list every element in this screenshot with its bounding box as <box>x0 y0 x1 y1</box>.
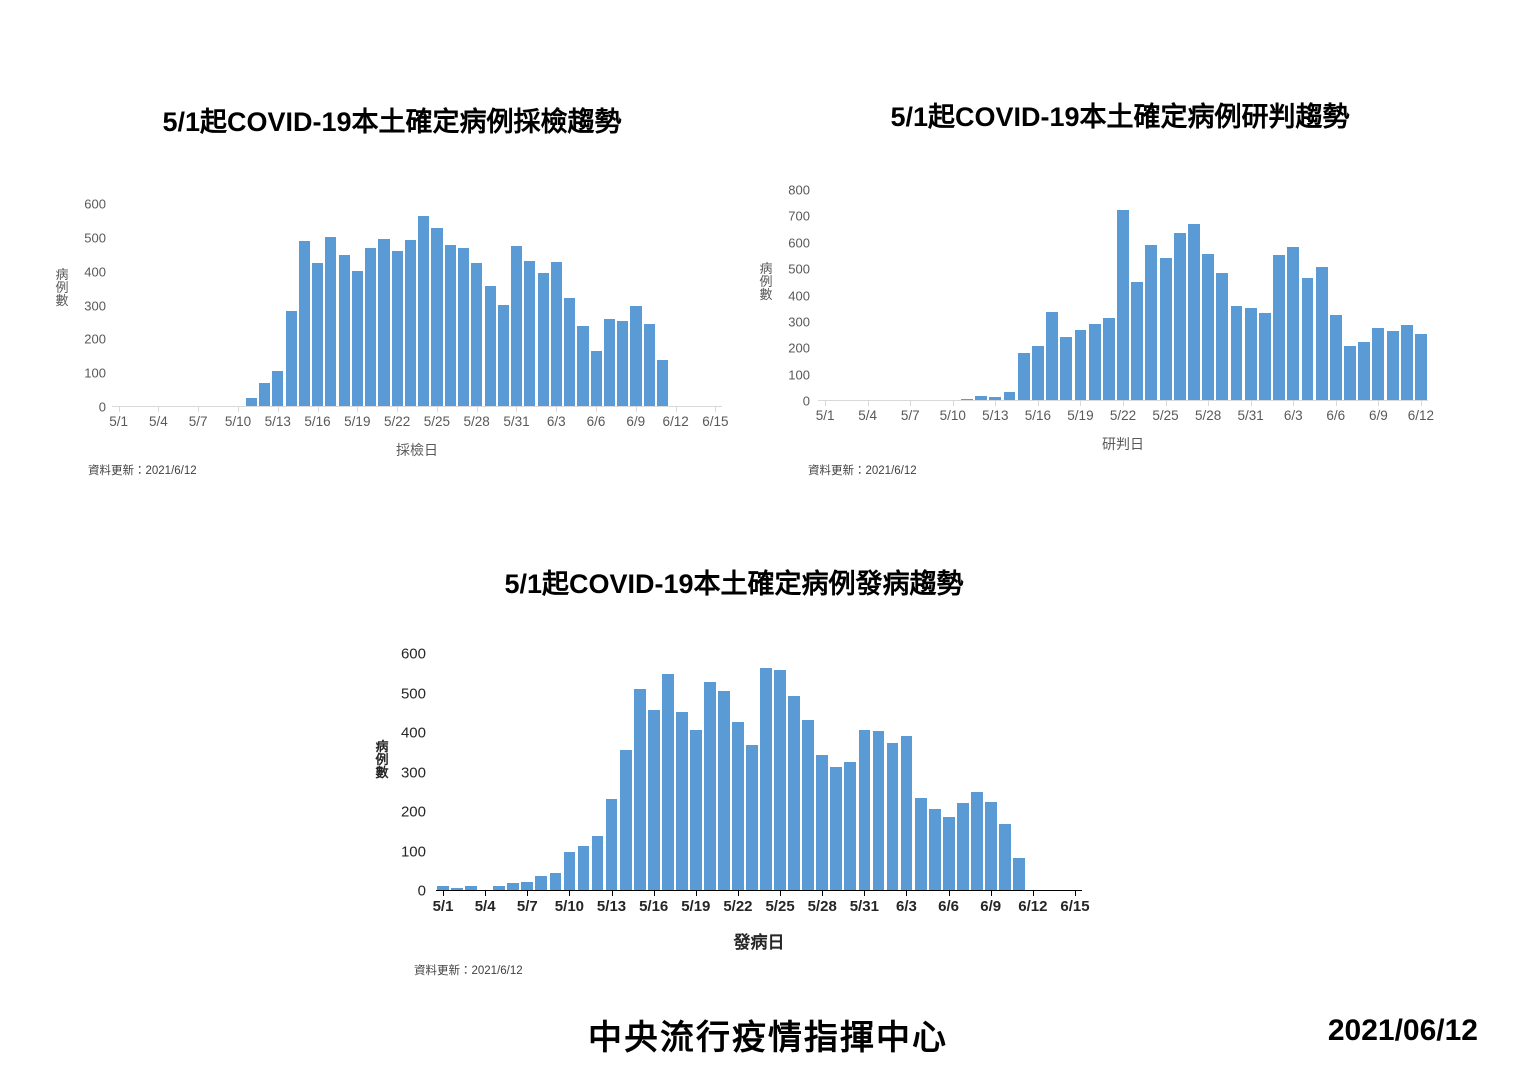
y-tick-label: 400 <box>401 725 426 742</box>
bar <box>732 722 744 890</box>
x-tick-mark <box>1080 401 1081 406</box>
bar <box>511 246 522 406</box>
bar-slot <box>886 654 900 890</box>
bar-slot <box>616 204 629 406</box>
y-tick-label: 600 <box>84 197 106 212</box>
x-tick-mark <box>596 407 597 412</box>
bar <box>1032 346 1044 400</box>
bar <box>538 273 549 406</box>
bar-slot <box>1258 190 1272 400</box>
x-tick-mark <box>1378 401 1379 406</box>
bar-slot <box>436 654 450 890</box>
x-tick-label: 5/31 <box>1238 408 1264 423</box>
bar <box>1004 392 1016 400</box>
update-note-sampling: 資料更新：2021/6/12 <box>88 462 197 478</box>
y-tick-label: 100 <box>84 366 106 381</box>
y-tick-label: 0 <box>99 400 106 415</box>
x-tick-mark <box>527 891 528 896</box>
x-tick-mark <box>715 407 716 412</box>
bar-slot <box>506 654 520 890</box>
bar-slot <box>1073 190 1087 400</box>
bar <box>498 305 509 407</box>
x-axis-ticks-sampling: 5/15/45/75/105/135/165/195/225/255/285/3… <box>112 407 722 429</box>
bar <box>259 383 270 406</box>
x-tick-mark <box>612 891 613 896</box>
bar-slot <box>550 204 563 406</box>
x-tick-mark <box>949 891 950 896</box>
x-tick-mark <box>1166 401 1167 406</box>
bar <box>471 263 482 406</box>
bar <box>339 255 350 406</box>
bar <box>975 396 987 400</box>
bar <box>1372 328 1384 400</box>
bar-slot <box>1400 190 1414 400</box>
x-tick-mark <box>437 407 438 412</box>
bar-slot <box>603 204 616 406</box>
x-tick-label: 5/7 <box>189 414 208 429</box>
bar-slot <box>284 204 297 406</box>
bar <box>901 736 913 890</box>
bar <box>1259 313 1271 400</box>
x-tick-label: 5/22 <box>384 414 410 429</box>
chart-panel-onset: 5/1起COVID-19本土確定病例發病趨勢 病 例 數 60050040030… <box>370 562 1130 992</box>
bar-slot <box>928 654 942 890</box>
x-tick-mark <box>198 407 199 412</box>
bar <box>458 248 469 406</box>
y-tick-label: 600 <box>401 646 426 663</box>
bar-slot <box>1045 190 1059 400</box>
bars-container-determination <box>818 190 1428 401</box>
bar <box>1103 318 1115 400</box>
bar-slot <box>829 654 843 890</box>
bar-slot <box>1159 190 1173 400</box>
y-tick-label: 400 <box>788 288 810 303</box>
x-tick-label: 6/12 <box>662 414 688 429</box>
bar-slot <box>689 654 703 890</box>
chart-panel-sampling: 5/1起COVID-19本土確定病例採檢趨勢 病 例 數 60050040030… <box>60 100 740 500</box>
bar-slot <box>942 654 956 890</box>
x-tick-mark <box>238 407 239 412</box>
bar-slot <box>192 204 205 406</box>
update-note-onset: 資料更新：2021/6/12 <box>414 962 523 978</box>
bar <box>989 397 1001 400</box>
x-tick-mark <box>1336 401 1337 406</box>
bar <box>1131 282 1143 400</box>
chart-title-determination: 5/1起COVID-19本土確定病例研判趨勢 <box>790 95 1450 134</box>
bar-slot <box>1386 190 1400 400</box>
x-tick-label: 5/25 <box>1152 408 1178 423</box>
x-tick-mark <box>1251 401 1252 406</box>
bar <box>746 745 758 890</box>
x-axis-ticks-onset: 5/15/45/75/105/135/165/195/225/255/285/3… <box>436 891 1082 913</box>
bar-slot <box>457 204 470 406</box>
bar-slot <box>576 654 590 890</box>
bar-slot <box>745 654 759 890</box>
y-axis-title-onset: 病 例 數 <box>374 740 390 779</box>
x-tick-label: 5/4 <box>149 414 168 429</box>
bar-slot <box>534 654 548 890</box>
bar <box>577 326 588 406</box>
plot-area-sampling: 病 例 數 6005004003002001000 5/15/45/75/105… <box>60 190 740 420</box>
bar-slot <box>417 204 430 406</box>
x-tick-mark <box>278 407 279 412</box>
bar-slot <box>647 654 661 890</box>
bar <box>352 271 363 406</box>
bar <box>445 245 456 406</box>
bar-slot <box>857 654 871 890</box>
bar <box>578 846 590 890</box>
x-tick-mark <box>1123 401 1124 406</box>
footer-date: 2021/06/12 <box>1328 1014 1478 1048</box>
bar-slot <box>1040 654 1054 890</box>
bar <box>418 216 429 406</box>
y-tick-label: 500 <box>84 230 106 245</box>
bar-slot <box>510 204 523 406</box>
x-tick-mark <box>357 407 358 412</box>
bar-slot <box>956 654 970 890</box>
bar <box>1160 258 1172 400</box>
bar-slot <box>832 190 846 400</box>
bar <box>971 792 983 890</box>
x-tick-mark <box>485 891 486 896</box>
bar <box>915 798 927 890</box>
y-tick-label: 500 <box>401 685 426 702</box>
bar-slot <box>1130 190 1144 400</box>
x-tick-label: 6/12 <box>1408 408 1434 423</box>
bar-slot <box>478 654 492 890</box>
bar <box>1287 247 1299 400</box>
bar-slot <box>178 204 191 406</box>
bar <box>451 888 463 890</box>
bar <box>887 743 899 890</box>
x-tick-mark <box>868 401 869 406</box>
y-tick-label: 600 <box>788 235 810 250</box>
y-tick-label: 300 <box>788 314 810 329</box>
bar <box>760 668 772 890</box>
bar <box>550 873 562 890</box>
bar-slot <box>1102 190 1116 400</box>
bar <box>1245 308 1257 400</box>
x-tick-mark <box>1208 401 1209 406</box>
x-tick-label: 5/4 <box>475 898 496 915</box>
bar <box>465 886 477 890</box>
bar <box>1216 273 1228 400</box>
bar <box>1415 334 1427 400</box>
bar-slot <box>1068 654 1082 890</box>
bar-slot <box>871 654 885 890</box>
bar <box>524 261 535 406</box>
x-tick-mark <box>318 407 319 412</box>
bar <box>644 324 655 406</box>
x-tick-label: 5/25 <box>765 898 794 915</box>
bar-slot <box>590 204 603 406</box>
bar <box>1089 324 1101 400</box>
x-tick-label: 5/16 <box>1025 408 1051 423</box>
x-tick-mark <box>696 891 697 896</box>
bar-slot <box>1187 190 1201 400</box>
plot-area-onset: 病 例 數 6005004003002001000 5/15/45/75/105… <box>370 640 1130 910</box>
x-tick-label: 5/28 <box>1195 408 1221 423</box>
bar <box>929 809 941 890</box>
bar-slot <box>165 204 178 406</box>
bar <box>1013 858 1025 890</box>
bar-slot <box>563 204 576 406</box>
bar-slot <box>1116 190 1130 400</box>
bar <box>802 720 814 890</box>
x-tick-mark <box>477 407 478 412</box>
bar-slot <box>773 654 787 890</box>
x-tick-label: 5/1 <box>109 414 128 429</box>
bar <box>1358 342 1370 400</box>
x-tick-mark <box>953 401 954 406</box>
x-tick-mark <box>864 891 865 896</box>
bar-slot <box>1002 190 1016 400</box>
bar <box>591 351 602 406</box>
bar-slot <box>988 190 1002 400</box>
bar <box>1302 278 1314 400</box>
bar <box>1174 233 1186 400</box>
bar-slot <box>709 204 722 406</box>
x-tick-label: 6/9 <box>626 414 645 429</box>
bar <box>521 882 533 890</box>
x-tick-label: 5/31 <box>850 898 879 915</box>
y-tick-label: 0 <box>418 883 426 900</box>
bar-slot <box>703 654 717 890</box>
bar-slot <box>818 190 832 400</box>
x-axis-title-sampling: 採檢日 <box>396 440 438 460</box>
bar-slot <box>537 204 550 406</box>
bar-slot <box>364 204 377 406</box>
bar <box>299 241 310 406</box>
x-tick-label: 5/19 <box>681 898 710 915</box>
bar <box>431 228 442 406</box>
x-tick-label: 5/25 <box>424 414 450 429</box>
x-tick-label: 5/31 <box>503 414 529 429</box>
bar-slot <box>1215 190 1229 400</box>
bar <box>718 691 730 890</box>
bar-slot <box>970 654 984 890</box>
y-tick-label: 100 <box>788 367 810 382</box>
x-tick-label: 5/7 <box>517 898 538 915</box>
x-tick-label: 5/28 <box>464 414 490 429</box>
x-tick-label: 5/1 <box>816 408 835 423</box>
bar-slot <box>1054 654 1068 890</box>
bar-slot <box>351 204 364 406</box>
y-tick-label: 500 <box>788 262 810 277</box>
y-axis-ticks-sampling: 6005004003002001000 <box>76 204 110 406</box>
bar-slot <box>1031 190 1045 400</box>
bar <box>788 696 800 890</box>
bar-slot <box>464 654 478 890</box>
bar-slot <box>861 190 875 400</box>
bar-slot <box>946 190 960 400</box>
bar-slot <box>492 654 506 890</box>
x-tick-label: 5/10 <box>940 408 966 423</box>
bar <box>1018 353 1030 400</box>
bar-slot <box>656 204 669 406</box>
bar-slot <box>633 654 647 890</box>
bar <box>985 802 997 890</box>
bar-slot <box>444 204 457 406</box>
x-tick-mark <box>569 891 570 896</box>
bar <box>676 712 688 890</box>
x-tick-label: 6/12 <box>1018 898 1047 915</box>
bar <box>604 319 615 406</box>
bar-slot <box>271 204 284 406</box>
bar-slot <box>311 204 324 406</box>
bar-slot <box>914 654 928 890</box>
x-tick-label: 5/4 <box>858 408 877 423</box>
y-tick-label: 0 <box>803 394 810 409</box>
x-tick-mark <box>119 407 120 412</box>
bar <box>1344 346 1356 400</box>
x-tick-label: 6/6 <box>1326 408 1345 423</box>
x-tick-label: 6/9 <box>980 898 1001 915</box>
bar-slot <box>1229 190 1243 400</box>
bar <box>378 239 389 406</box>
bar-slot <box>576 204 589 406</box>
bar <box>1401 325 1413 400</box>
bar <box>690 730 702 890</box>
x-tick-mark <box>1038 401 1039 406</box>
bar-slot <box>1315 190 1329 400</box>
bar-slot <box>984 654 998 890</box>
bar <box>365 248 376 406</box>
bar <box>859 730 871 890</box>
y-tick-label: 300 <box>401 764 426 781</box>
bar-slot <box>377 204 390 406</box>
bar <box>657 360 668 406</box>
bar <box>392 251 403 406</box>
update-note-determination: 資料更新：2021/6/12 <box>808 462 917 478</box>
bar-slot <box>548 654 562 890</box>
x-tick-label: 5/28 <box>808 898 837 915</box>
bar-slot <box>125 204 138 406</box>
x-tick-mark <box>1033 891 1034 896</box>
bar-slot <box>231 204 244 406</box>
bar <box>634 689 646 890</box>
bar <box>551 262 562 406</box>
bar-slot <box>523 204 536 406</box>
y-tick-label: 100 <box>401 843 426 860</box>
bar <box>564 298 575 406</box>
y-tick-label: 400 <box>84 264 106 279</box>
bar-slot <box>932 190 946 400</box>
bar-slot <box>245 204 258 406</box>
x-tick-label: 6/9 <box>1369 408 1388 423</box>
bar-slot <box>974 190 988 400</box>
x-tick-label: 5/1 <box>433 898 454 915</box>
bar <box>312 263 323 406</box>
bar-slot <box>1343 190 1357 400</box>
bar-slot <box>759 654 773 890</box>
x-tick-label: 5/13 <box>982 408 1008 423</box>
bar <box>564 852 576 890</box>
bar-slot <box>605 654 619 890</box>
x-tick-mark <box>1075 891 1076 896</box>
y-tick-label: 800 <box>788 183 810 198</box>
x-tick-label: 6/3 <box>1284 408 1303 423</box>
bar <box>325 237 336 406</box>
bar <box>1075 330 1087 400</box>
x-axis-title-onset: 發病日 <box>734 928 785 953</box>
y-axis-title-determination: 病 例 數 <box>758 262 774 301</box>
bar-slot <box>998 654 1012 890</box>
bar <box>648 710 660 890</box>
x-tick-label: 5/16 <box>304 414 330 429</box>
bar-slot <box>591 654 605 890</box>
y-axis-ticks-onset: 6005004003002001000 <box>396 654 430 890</box>
x-tick-mark <box>1421 401 1422 406</box>
y-tick-label: 200 <box>84 332 106 347</box>
bar <box>1330 315 1342 400</box>
bar-slot <box>1286 190 1300 400</box>
chart-panel-determination: 5/1起COVID-19本土確定病例研判趨勢 病 例 數 80070060050… <box>790 95 1470 495</box>
bar-slot <box>675 654 689 890</box>
bar-slot <box>218 204 231 406</box>
chart-title-sampling: 5/1起COVID-19本土確定病例採檢趨勢 <box>52 100 732 139</box>
bars-container-onset <box>436 654 1082 891</box>
x-tick-label: 6/6 <box>938 898 959 915</box>
bar <box>961 399 973 400</box>
x-tick-label: 6/3 <box>896 898 917 915</box>
bar-slot <box>1414 190 1428 400</box>
x-tick-label: 6/15 <box>702 414 728 429</box>
x-tick-mark <box>906 891 907 896</box>
bar <box>774 670 786 890</box>
bar <box>272 371 283 406</box>
bar <box>662 674 674 890</box>
bar-slot <box>875 190 889 400</box>
x-tick-label: 5/13 <box>597 898 626 915</box>
y-tick-label: 200 <box>788 341 810 356</box>
bar-slot <box>900 654 914 890</box>
x-tick-mark <box>556 407 557 412</box>
x-tick-label: 5/13 <box>265 414 291 429</box>
bar-slot <box>815 654 829 890</box>
x-tick-label: 5/10 <box>225 414 251 429</box>
y-tick-label: 200 <box>401 804 426 821</box>
bar-slot <box>1329 190 1343 400</box>
bar-slot <box>661 654 675 890</box>
bar <box>1046 312 1058 400</box>
bar-slot <box>669 204 682 406</box>
bar-slot <box>1144 190 1158 400</box>
bar <box>1117 210 1129 400</box>
bar-slot <box>112 204 125 406</box>
x-axis-title-determination: 研判日 <box>1102 434 1144 454</box>
x-tick-mark <box>995 401 996 406</box>
bar-slot <box>682 204 695 406</box>
x-tick-mark <box>825 401 826 406</box>
x-tick-mark <box>158 407 159 412</box>
bar <box>816 755 828 890</box>
bar <box>1188 224 1200 400</box>
bar <box>830 767 842 890</box>
bar <box>1231 306 1243 400</box>
x-tick-mark <box>1293 401 1294 406</box>
bar <box>485 286 496 406</box>
bar <box>1060 337 1072 400</box>
bar <box>704 682 716 890</box>
bar-slot <box>643 204 656 406</box>
bar-slot <box>619 654 633 890</box>
bar-slot <box>152 204 165 406</box>
bar-slot <box>717 654 731 890</box>
x-tick-mark <box>443 891 444 896</box>
bar <box>1273 255 1285 400</box>
bar-slot <box>338 204 351 406</box>
